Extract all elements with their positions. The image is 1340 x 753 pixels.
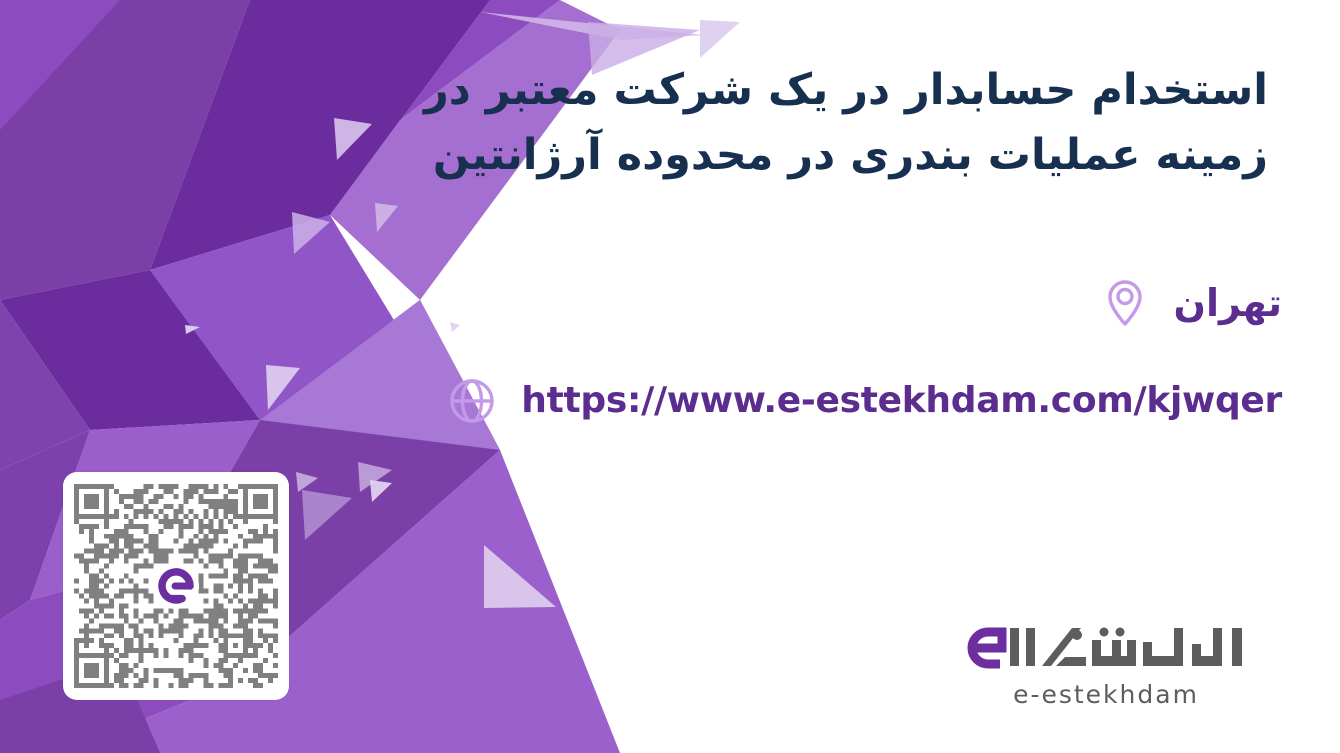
location-text: تهران: [1174, 284, 1282, 322]
job-title: استخدام حسابدار در یک شرکت معتبر در زمین…: [328, 58, 1268, 189]
brand-logo: e-estekhdam: [944, 618, 1268, 712]
job-share-card: استخدام حسابدار در یک شرکت معتبر در زمین…: [0, 0, 1340, 753]
e-estekhdam-e-icon: [149, 559, 203, 613]
brand-wordmark-latin: e-estekhdam: [944, 680, 1268, 709]
qr-code-card[interactable]: [63, 472, 289, 700]
map-pin-icon: [1098, 276, 1152, 330]
globe-icon: [445, 374, 499, 428]
location-row: تهران: [1098, 276, 1282, 330]
brand-wordmark-fa: [944, 618, 1268, 676]
website-row[interactable]: https://www.e-estekhdam.com/kjwqer: [445, 374, 1282, 428]
website-url-text[interactable]: https://www.e-estekhdam.com/kjwqer: [521, 383, 1282, 419]
